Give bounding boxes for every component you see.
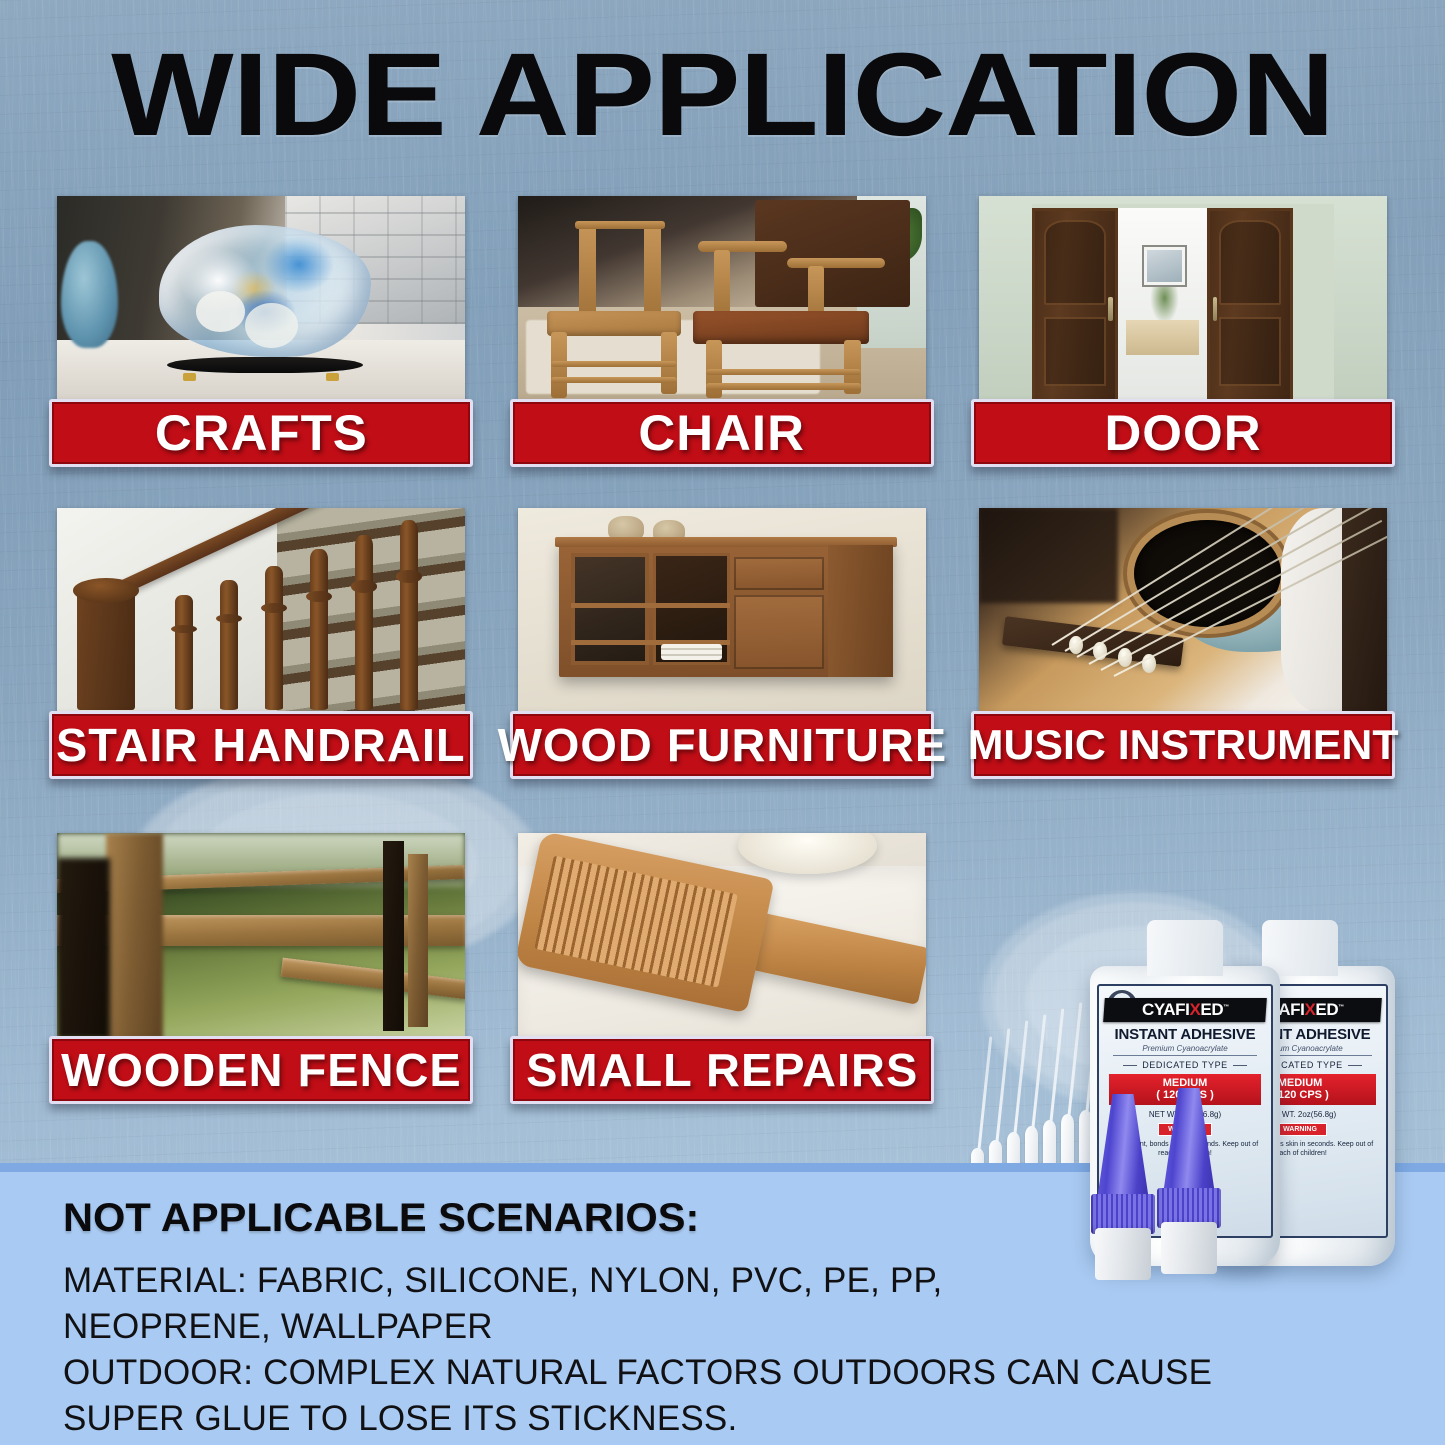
photo-stair-handrail: [57, 508, 465, 714]
photo-door: [979, 196, 1387, 402]
label-subtitle-front: Premium Cyanoacrylate: [1113, 1044, 1257, 1056]
photo-small-repairs: [518, 833, 926, 1039]
application-cell-stair-handrail[interactable]: STAIR HANDRAIL: [57, 508, 465, 783]
photo-crafts: [57, 196, 465, 402]
banner-door[interactable]: DOOR: [971, 399, 1395, 467]
banner-small-repairs[interactable]: SMALL REPAIRS: [510, 1036, 934, 1104]
banner-label-wooden-fence: WOODEN FENCE: [61, 1045, 462, 1095]
photo-wooden-fence: [57, 833, 465, 1039]
photo-music-instrument: [979, 508, 1387, 714]
banner-music-instrument[interactable]: MUSIC INSTRUMENT: [971, 711, 1395, 779]
banner-label-door: DOOR: [1104, 408, 1261, 458]
not-applicable-line: OUTDOOR: COMPLEX NATURAL FACTORS OUTDOOR…: [63, 1350, 1393, 1396]
banner-label-wood-furniture: WOOD FURNITURE: [497, 720, 947, 770]
application-cell-chair[interactable]: CHAIR: [518, 196, 926, 471]
not-applicable-line: NEOPRENE, WALLPAPER: [63, 1304, 1393, 1350]
scene-wooden-comb: [518, 833, 926, 1039]
application-cell-wooden-fence[interactable]: WOODEN FENCE: [57, 833, 465, 1108]
banner-chair[interactable]: CHAIR: [510, 399, 934, 467]
application-cell-music-instrument[interactable]: MUSIC INSTRUMENT: [979, 508, 1387, 783]
scene-glass-craft-sculpture: [57, 196, 465, 402]
banner-crafts[interactable]: CRAFTS: [49, 399, 473, 467]
application-cell-wood-furniture[interactable]: WOOD FURNITURE: [518, 508, 926, 783]
banner-label-stair-handrail: STAIR HANDRAIL: [56, 720, 466, 770]
banner-label-crafts: CRAFTS: [155, 408, 368, 458]
application-cell-small-repairs[interactable]: SMALL REPAIRS: [518, 833, 926, 1108]
scene-acoustic-guitar: [979, 508, 1387, 714]
banner-label-music-instrument: MUSIC INSTRUMENT: [968, 720, 1399, 770]
banner-wooden-fence[interactable]: WOODEN FENCE: [49, 1036, 473, 1104]
label-product-name-front: INSTANT ADHESIVE: [1099, 1026, 1271, 1043]
banner-stair-handrail[interactable]: STAIR HANDRAIL: [49, 711, 473, 779]
scene-wooden-double-door: [979, 196, 1387, 402]
label-type-front: DEDICATED TYPE: [1099, 1060, 1271, 1070]
not-applicable-lines: MATERIAL: FABRIC, SILICONE, NYLON, PVC, …: [63, 1258, 1393, 1442]
scene-wooden-staircase-railing: [57, 508, 465, 714]
photo-chair: [518, 196, 926, 402]
not-applicable-title: NOT APPLICABLE SCENARIOS:: [63, 1198, 699, 1238]
application-cell-door[interactable]: DOOR: [979, 196, 1387, 471]
banner-label-chair: CHAIR: [639, 408, 806, 458]
banner-label-small-repairs: SMALL REPAIRS: [526, 1045, 918, 1095]
not-applicable-line: SUPER GLUE TO LOSE ITS STICKNESS.: [63, 1396, 1393, 1442]
label-warning-badge-back: WARNING: [1273, 1123, 1327, 1136]
photo-wood-furniture: [518, 508, 926, 714]
brand-logo-front: CYAFIXED™: [1103, 998, 1267, 1022]
scene-wooden-sideboard-cabinet: [518, 508, 926, 714]
scene-rustic-wood-fence: [57, 833, 465, 1039]
application-cell-crafts[interactable]: CRAFTS: [57, 196, 465, 471]
banner-wood-furniture[interactable]: WOOD FURNITURE: [510, 711, 934, 779]
scene-wooden-chairs: [518, 196, 926, 402]
